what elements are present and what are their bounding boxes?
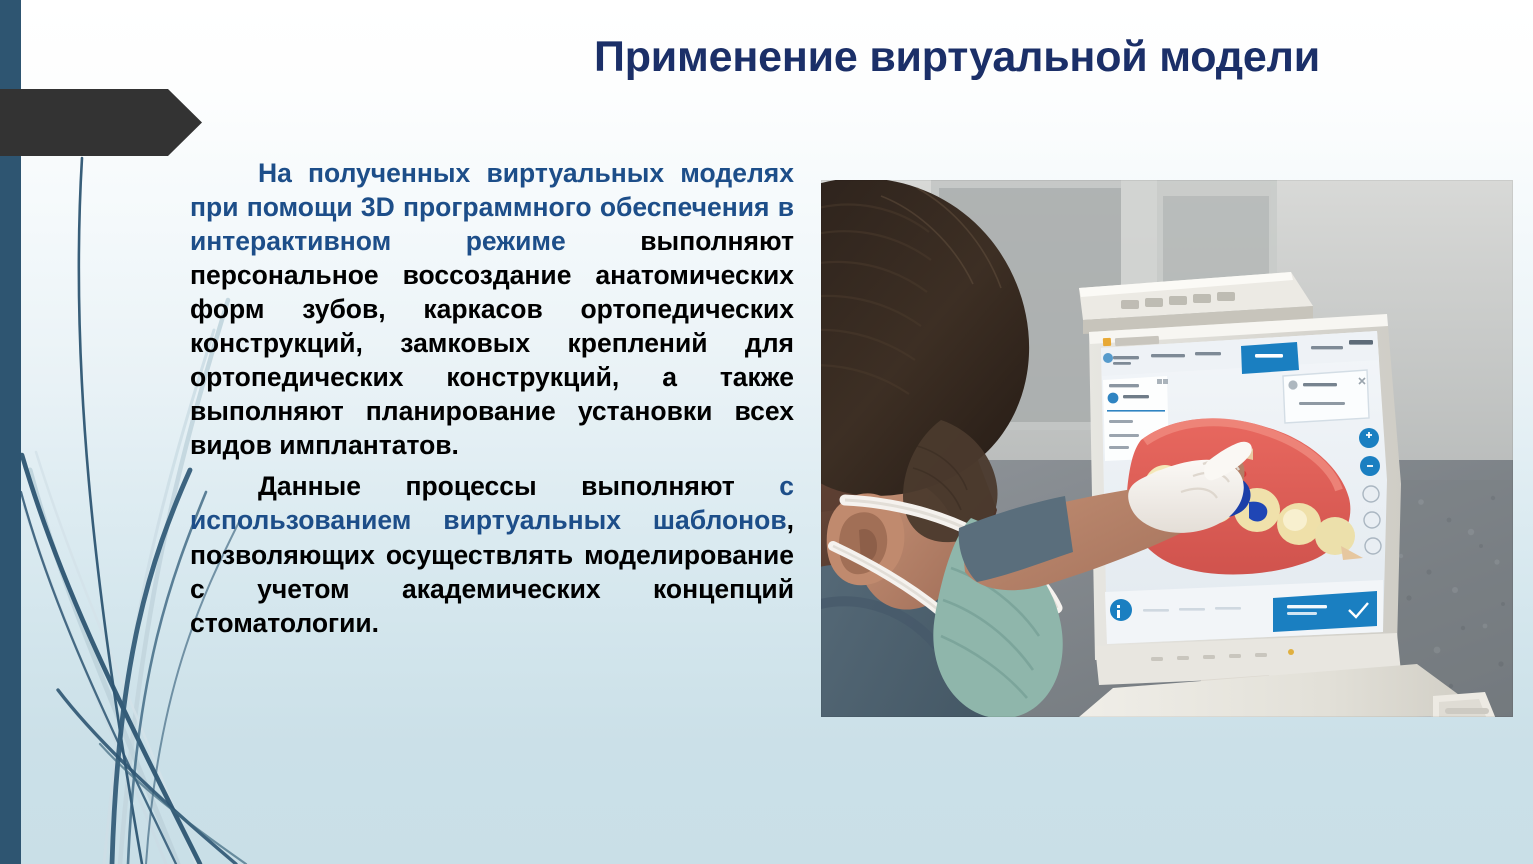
- swoosh-line-dark-8: [100, 744, 246, 864]
- paragraph-1-plain: выполняют персональное воссоздание анато…: [190, 226, 794, 460]
- swoosh-line-dark-1: [79, 158, 142, 864]
- swoosh-line-dark-4: [112, 470, 190, 864]
- power-led: [1288, 649, 1294, 655]
- paragraph-1: На полученных виртуальных моделях при по…: [190, 156, 794, 462]
- swoosh-line-pale-5: [36, 452, 196, 864]
- chevron-banner-shape: [0, 89, 202, 156]
- paragraph-2-lead: Данные процессы выполняют: [258, 471, 779, 501]
- swoosh-line-dark-3: [21, 492, 176, 864]
- active-tab-label: [1255, 354, 1283, 358]
- page-title: Применение виртуальной модели: [452, 33, 1462, 83]
- slide-body-text: На полученных виртуальных моделях при по…: [190, 156, 794, 640]
- swoosh-line-dark-2: [22, 455, 200, 864]
- presentation-slide: Применение виртуальной модели На получен…: [0, 0, 1533, 864]
- clinical-photo-illustration: [821, 180, 1513, 717]
- swoosh-line-pale-3: [30, 470, 178, 864]
- software-app-icon: [1103, 353, 1113, 363]
- swoosh-line-dark-7: [58, 690, 236, 864]
- cerec-logo: [1349, 340, 1373, 345]
- clinical-photo: [821, 180, 1513, 717]
- paragraph-1-plain-space: [566, 226, 641, 256]
- active-tab-design: [1241, 342, 1299, 374]
- status-info-icon: [1110, 599, 1132, 621]
- software-dialog: [1283, 370, 1369, 423]
- paragraph-2: Данные процессы выполняют с использовани…: [190, 469, 794, 639]
- swoosh-line-pale-4: [24, 505, 166, 864]
